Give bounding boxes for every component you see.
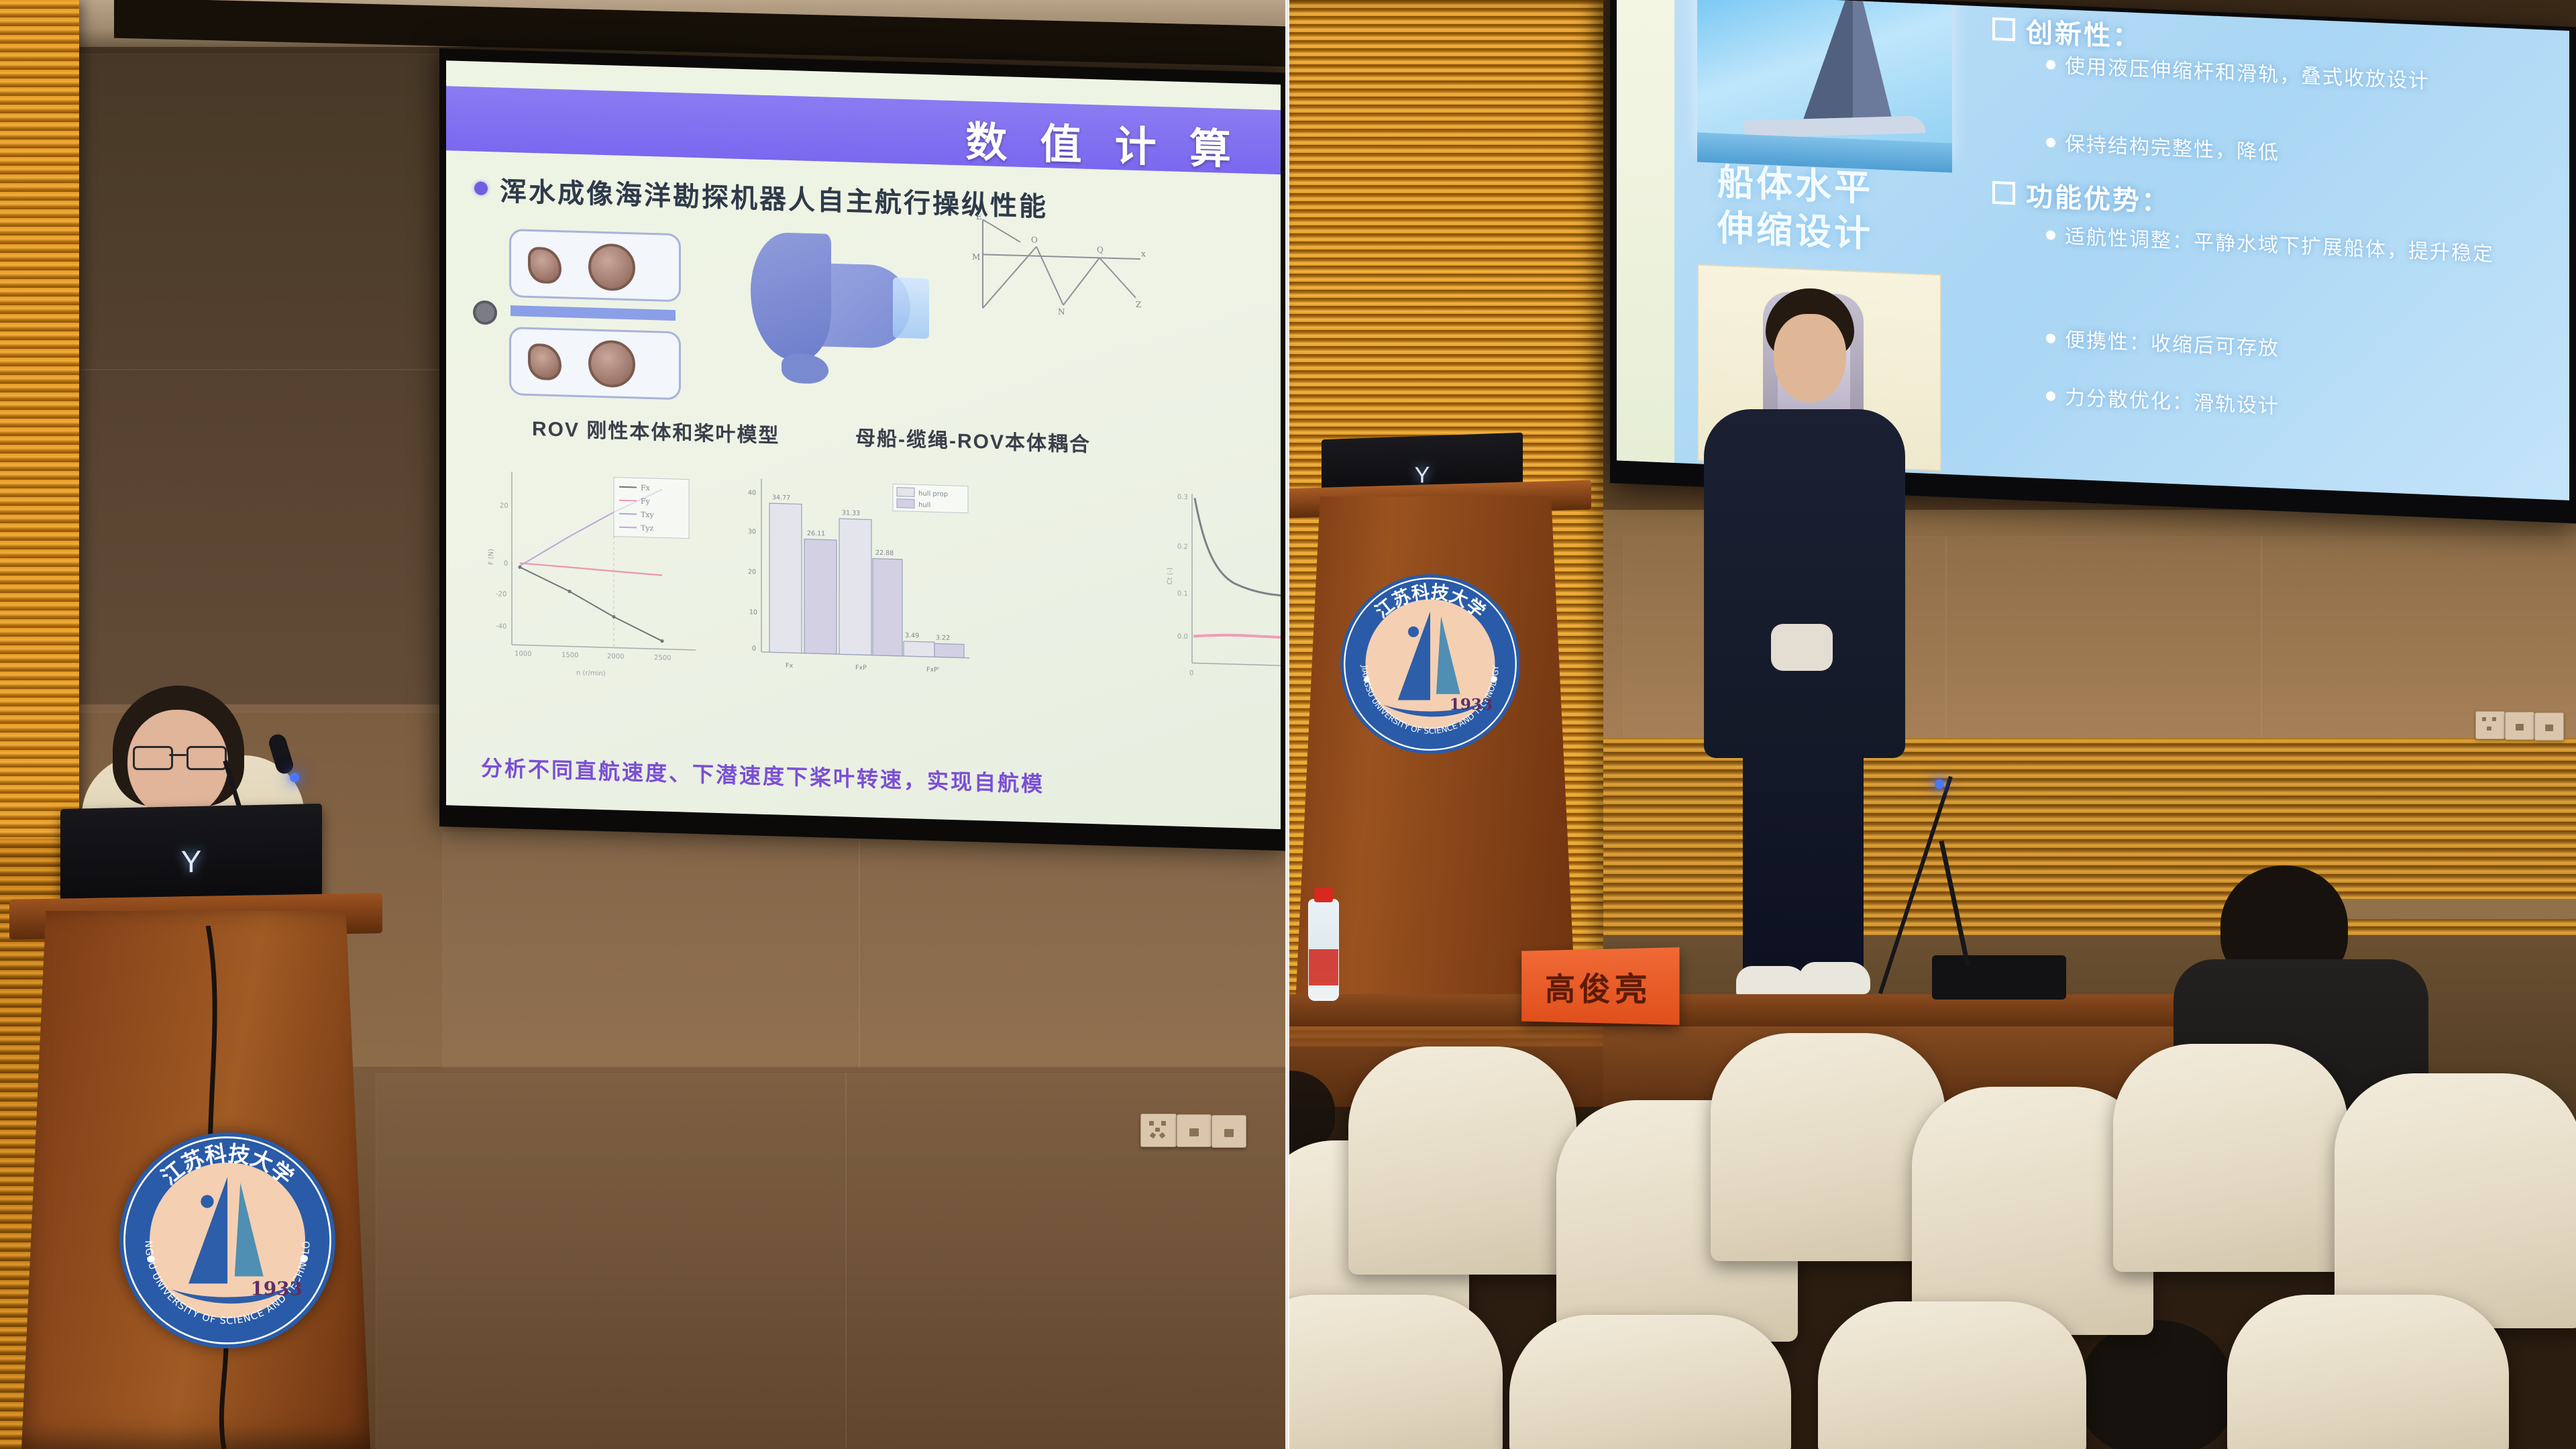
mothership-cable-rov-diagram: EM ON QZ x <box>956 213 1157 400</box>
slide-title: 数 值 计 算 <box>965 108 1242 176</box>
chart-bar-comparison: 34.7726.11 31.3322.88 3.493.22 FxFxP FxP… <box>735 472 976 700</box>
slide-list-item: 便携性：收缩后可存放 <box>2046 324 2569 376</box>
svg-text:0: 0 <box>1189 669 1193 677</box>
svg-text:x: x <box>1141 249 1146 258</box>
data-jack-outlet[interactable] <box>2534 712 2564 741</box>
svg-text:FxP': FxP' <box>926 666 939 674</box>
svg-text:hull: hull <box>918 502 930 510</box>
presentation-slide-left: 数 值 计 算 浑水成像海洋勘探机器人自主航行操纵性能 <box>446 60 1281 829</box>
svg-text:22.88: 22.88 <box>875 549 894 557</box>
chart-thrust-coefficient: 0.30.2 0.10.0 0 Ct (-) <box>1163 484 1281 709</box>
chair <box>1509 1315 1791 1449</box>
svg-text:30: 30 <box>748 528 756 535</box>
presenter-trousers <box>1743 745 1864 1000</box>
panel-divider <box>1285 0 1289 1449</box>
university-emblem-svg-left: 江苏科技大学 JIANGSU UNIVERSITY OF SCIENCE AND… <box>119 1132 335 1348</box>
legion-y-logo-icon: Y <box>181 843 202 880</box>
square-bullet-icon <box>1992 17 2015 41</box>
svg-text:Txy: Txy <box>641 511 655 520</box>
svg-text:Fx: Fx <box>641 484 651 492</box>
presenter-shoe <box>1799 962 1870 994</box>
chart-bar-comparison-svg: 34.7726.11 31.3322.88 3.493.22 FxFxP FxP… <box>735 472 976 700</box>
svg-text:34.77: 34.77 <box>772 494 790 502</box>
round-bullet-icon <box>2046 391 2055 401</box>
bullet-dot-icon <box>474 181 488 195</box>
svg-text:0: 0 <box>504 560 508 568</box>
chart-line-forces: 200 -20-40 10001500 20002500 n (r/min) F… <box>482 464 704 692</box>
svg-text:1500: 1500 <box>561 651 578 659</box>
round-bullet-icon <box>2046 333 2055 343</box>
projection-screen-left: 数 值 计 算 浑水成像海洋勘探机器人自主航行操纵性能 <box>439 48 1286 851</box>
wall-panel-seam <box>443 832 860 1068</box>
svg-text:F (N): F (N) <box>488 549 495 566</box>
wall-panel-seam <box>376 1073 847 1449</box>
svg-text:-40: -40 <box>496 623 506 630</box>
audience-member-head <box>2080 1320 2234 1449</box>
data-jack-outlet[interactable] <box>1212 1115 1246 1148</box>
svg-text:n (r/min): n (r/min) <box>576 669 606 678</box>
chair <box>1818 1301 2086 1449</box>
svg-text:hull prop: hull prop <box>918 490 948 498</box>
svg-text:20: 20 <box>748 568 756 576</box>
slide-list-item: 使用液压伸缩杆和滑轨，叠式收放设计 <box>2046 50 2563 102</box>
chair <box>1288 1295 1503 1449</box>
presenter-hands <box>1771 624 1833 671</box>
svg-text:Q: Q <box>1097 245 1104 254</box>
slide-section-heading-innovation: 创新性： <box>1992 9 2141 54</box>
chair <box>2227 1295 2509 1449</box>
svg-text:N: N <box>1058 307 1065 317</box>
data-jack-outlet[interactable] <box>1177 1114 1212 1147</box>
wall-panel-seam <box>1945 537 2262 753</box>
slide-list-item: 适航性调整：平静水域下扩展船体，提升稳定 <box>2046 221 2569 273</box>
presenter-face <box>1774 314 1846 402</box>
svg-text:0.2: 0.2 <box>1177 543 1188 551</box>
svg-text:1933: 1933 <box>250 1278 303 1300</box>
svg-text:FxP: FxP <box>855 664 867 672</box>
university-emblem-left: 江苏科技大学 JIANGSU UNIVERSITY OF SCIENCE AND… <box>119 1132 335 1348</box>
chair <box>1348 1046 1576 1275</box>
svg-text:3.22: 3.22 <box>936 634 950 642</box>
presenter-shoe <box>1736 966 1807 998</box>
wall-panel-seam <box>859 832 1287 1068</box>
chart-thrust-coefficient-svg: 0.30.2 0.10.0 0 Ct (-) <box>1163 484 1281 709</box>
svg-text:0.1: 0.1 <box>1177 590 1188 598</box>
svg-text:3.49: 3.49 <box>905 632 919 640</box>
vector-diagram-svg: EM ON QZ x <box>956 213 1157 400</box>
rov-diagram <box>490 225 712 400</box>
chart-line-forces-svg: 200 -20-40 10001500 20002500 n (r/min) F… <box>482 464 704 692</box>
svg-text:O: O <box>1031 235 1038 244</box>
round-bullet-icon <box>2046 230 2055 240</box>
nameplate-card: 高俊亮 <box>1521 947 1679 1025</box>
microphone-led-icon <box>290 773 299 782</box>
svg-text:1933: 1933 <box>1450 696 1493 714</box>
svg-text:-20: -20 <box>496 590 506 598</box>
chair <box>2334 1073 2576 1328</box>
diagram-caption-rov: ROV 刚性本体和桨叶模型 <box>532 412 780 449</box>
slide-list-item: 力分散优化：滑轨设计 <box>2046 382 2569 434</box>
svg-text:2500: 2500 <box>654 654 671 662</box>
data-jack-outlet[interactable] <box>2505 712 2534 740</box>
svg-text:Fx: Fx <box>786 662 793 669</box>
round-bullet-icon <box>2046 138 2055 148</box>
svg-text:M: M <box>972 252 980 262</box>
desk-microphone-base[interactable] <box>1932 955 2066 1000</box>
university-emblem-svg-right: 江苏科技大学 JIANGSU UNIVERSITY OF SCIENCE AND… <box>1340 574 1520 754</box>
laptop-left[interactable]: Y <box>60 804 322 904</box>
svg-text:Fy: Fy <box>641 497 651 506</box>
slide-footer-note: 分析不同直航速度、下潜速度下桨叶转速，实现自航模 <box>481 751 1044 798</box>
chair <box>1711 1033 1945 1261</box>
lecture-hall-screenshot: 数 值 计 算 浑水成像海洋勘探机器人自主航行操纵性能 <box>0 0 2576 1449</box>
slide-list-item: 保持结构完整性，降低 <box>2046 128 2563 180</box>
left-camera-panel: 数 值 计 算 浑水成像海洋勘探机器人自主航行操纵性能 <box>0 0 1287 1449</box>
svg-text:10: 10 <box>749 608 757 616</box>
slide-section-heading-advantages: 功能优势： <box>1992 173 2170 219</box>
svg-text:20: 20 <box>500 502 508 510</box>
microphone-led-icon <box>1935 780 1944 789</box>
chair <box>2113 1044 2348 1272</box>
water-bottle[interactable] <box>1308 899 1339 1001</box>
svg-text:0.3: 0.3 <box>1177 494 1188 501</box>
svg-text:40: 40 <box>748 489 756 496</box>
glasses-icon <box>133 746 224 766</box>
sailboat-photo <box>1697 0 1952 159</box>
svg-text:E: E <box>976 213 982 221</box>
svg-text:31.33: 31.33 <box>842 509 860 517</box>
diagram-caption-coupling: 母船-缆绳-ROV本体耦合 <box>855 421 1091 458</box>
rov-body-3d-model <box>735 225 936 398</box>
svg-text:2000: 2000 <box>607 653 624 661</box>
svg-text:Z: Z <box>1136 300 1141 309</box>
svg-text:1000: 1000 <box>515 650 531 658</box>
wall-panel-seam <box>80 369 444 712</box>
presenter-suit <box>1704 409 1905 758</box>
svg-text:Tyz: Tyz <box>641 524 654 533</box>
slide-title-right: 船体水平 伸缩设计 <box>1717 160 1873 258</box>
slide-left-accent-column <box>1617 0 1674 463</box>
dais-table-edge <box>1288 994 2227 1026</box>
presenter-right <box>1704 288 1905 986</box>
nameplate-text: 高俊亮 <box>1545 962 1652 1010</box>
wood-slat-wall <box>0 0 79 885</box>
square-bullet-icon <box>1992 181 2015 205</box>
bottle-label <box>1309 949 1338 985</box>
bottle-cap <box>1314 888 1333 902</box>
power-socket-outlet[interactable] <box>1140 1114 1177 1147</box>
university-emblem-right: 江苏科技大学 JIANGSU UNIVERSITY OF SCIENCE AND… <box>1340 574 1520 754</box>
round-bullet-icon <box>2046 60 2055 70</box>
power-socket-outlet[interactable] <box>2475 711 2505 739</box>
svg-text:Ct (-): Ct (-) <box>1167 568 1174 585</box>
svg-text:26.11: 26.11 <box>807 530 825 538</box>
svg-text:0: 0 <box>752 645 756 652</box>
svg-text:0.0: 0.0 <box>1177 633 1188 641</box>
wall-panel-seam <box>80 54 444 370</box>
right-camera-panel: 船体水平 伸缩设计 创新性： 使用液压伸缩杆和滑轨，叠式收放设计 保持结构完整性… <box>1288 0 2576 1449</box>
